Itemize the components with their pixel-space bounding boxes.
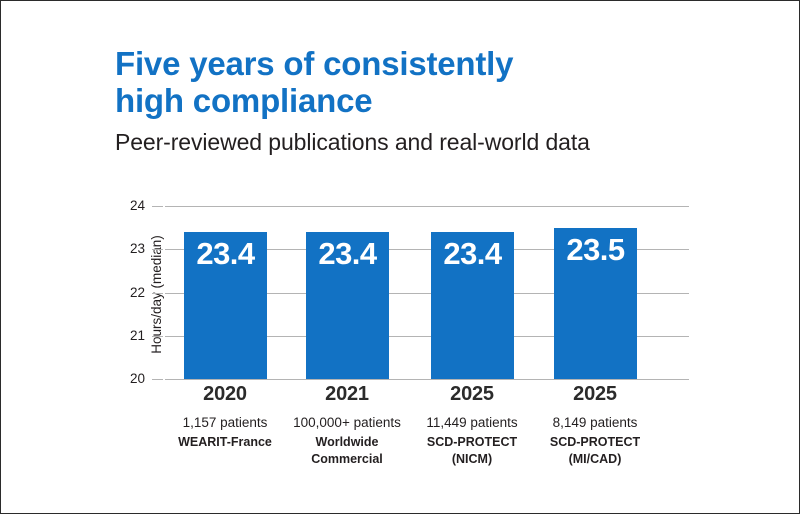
bar-value-label: 23.4 [184,238,267,269]
y-axis-tick [152,293,163,294]
y-axis-tick-label: 22 [111,285,145,300]
page-title: Five years of consistently high complian… [115,45,735,120]
bar: 23.4 [184,232,267,379]
y-axis-tick-label: 23 [111,241,145,256]
category-patient-count: 8,149 patients [510,415,680,430]
gridline [165,379,689,380]
y-axis-tick [152,249,163,250]
bar: 23.5 [554,228,637,379]
x-axis-category: 20258,149 patientsSCD-PROTECT (MI/CAD) [510,383,680,468]
category-study-name: SCD-PROTECT (MI/CAD) [510,434,680,468]
bar-value-label: 23.5 [554,234,637,265]
y-axis-tick [152,379,163,380]
plot-area: 202122232423.423.423.423.5 [165,206,689,379]
bar: 23.4 [306,232,389,379]
y-axis-tick-label: 21 [111,328,145,343]
gridline [165,206,689,207]
header-block: Five years of consistently high complian… [115,45,735,156]
bar-chart: Hours/day (median) 202122232423.423.423.… [1,187,800,497]
page-subtitle: Peer-reviewed publications and real-worl… [115,129,735,156]
bar-value-label: 23.4 [306,238,389,269]
bar: 23.4 [431,232,514,379]
bar-value-label: 23.4 [431,238,514,269]
y-axis-tick [152,336,163,337]
infographic-card: Five years of consistently high complian… [0,0,800,514]
y-axis-tick [152,206,163,207]
y-axis-tick-label: 24 [111,198,145,213]
category-year: 2025 [510,383,680,406]
